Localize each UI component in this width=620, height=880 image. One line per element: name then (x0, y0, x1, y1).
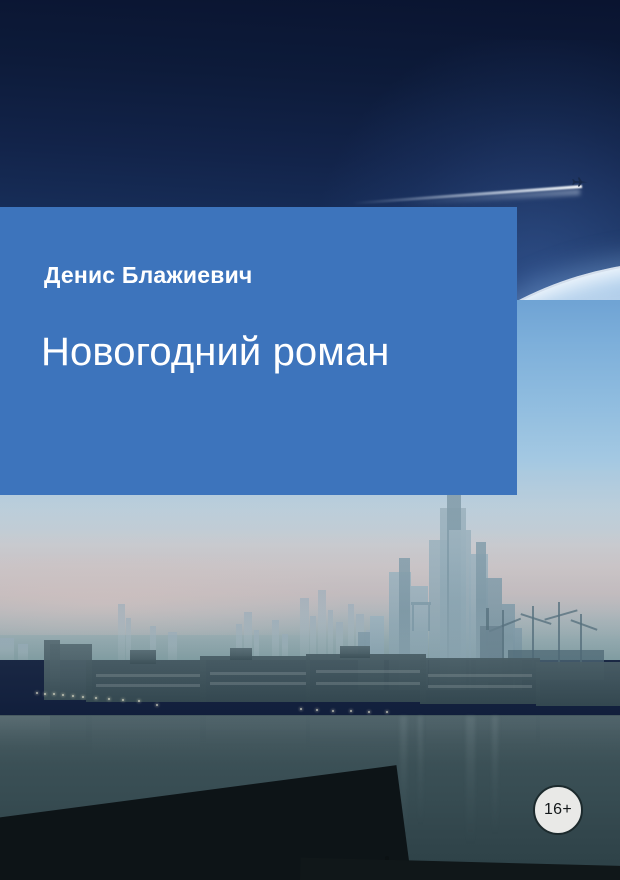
bird-silhouette (385, 856, 389, 860)
water-streak (466, 716, 475, 846)
age-rating-badge: 16+ (533, 785, 583, 835)
water-streak (418, 716, 423, 826)
water-streak (492, 716, 498, 836)
book-cover: Денис Блажиевич Новогодний роман 16+ (0, 0, 620, 880)
book-title: Новогодний роман (41, 330, 389, 375)
airplane-icon (571, 176, 589, 188)
water-reflection (0, 715, 620, 785)
author-name: Денис Блажиевич (44, 262, 252, 289)
